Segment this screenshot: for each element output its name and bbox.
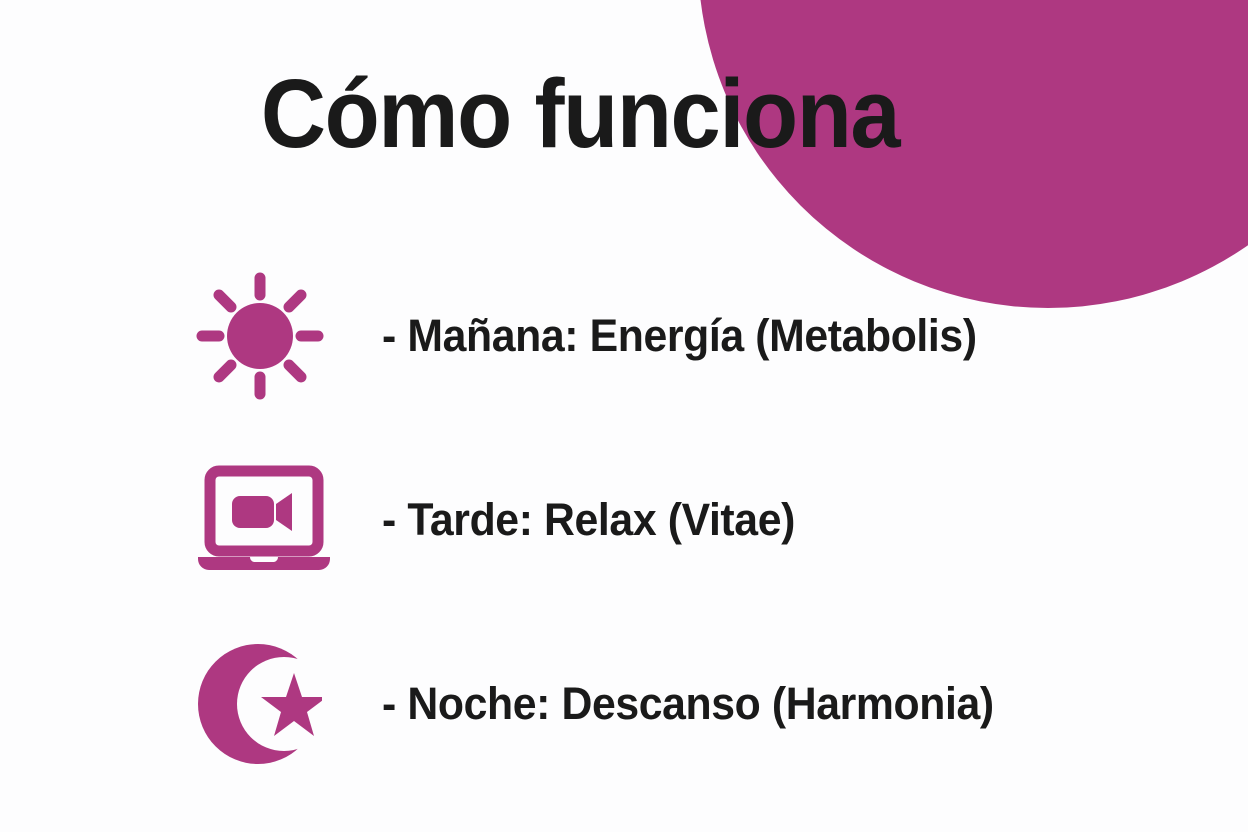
laptop-video-icon [196, 464, 346, 576]
feature-list: - Mañana: Energía (Metabolis) - Tarde: R… [0, 244, 1248, 796]
sun-icon-svg [196, 272, 324, 400]
crescent-moon-star-icon [196, 641, 346, 767]
laptop-video-icon-svg [196, 465, 332, 575]
slide-canvas: Cómo funciona [0, 0, 1248, 832]
crescent-moon-star-icon-svg [196, 642, 322, 766]
list-item[interactable]: - Mañana: Energía (Metabolis) [0, 244, 1248, 428]
sun-icon [196, 271, 346, 401]
list-item-label: - Mañana: Energía (Metabolis) [382, 310, 977, 362]
list-item-label: - Tarde: Relax (Vitae) [382, 494, 795, 546]
list-item-label: - Noche: Descanso (Harmonia) [382, 678, 994, 730]
page-title: Cómo funciona [41, 62, 1120, 167]
list-item[interactable]: - Noche: Descanso (Harmonia) [0, 612, 1248, 796]
list-item[interactable]: - Tarde: Relax (Vitae) [0, 428, 1248, 612]
